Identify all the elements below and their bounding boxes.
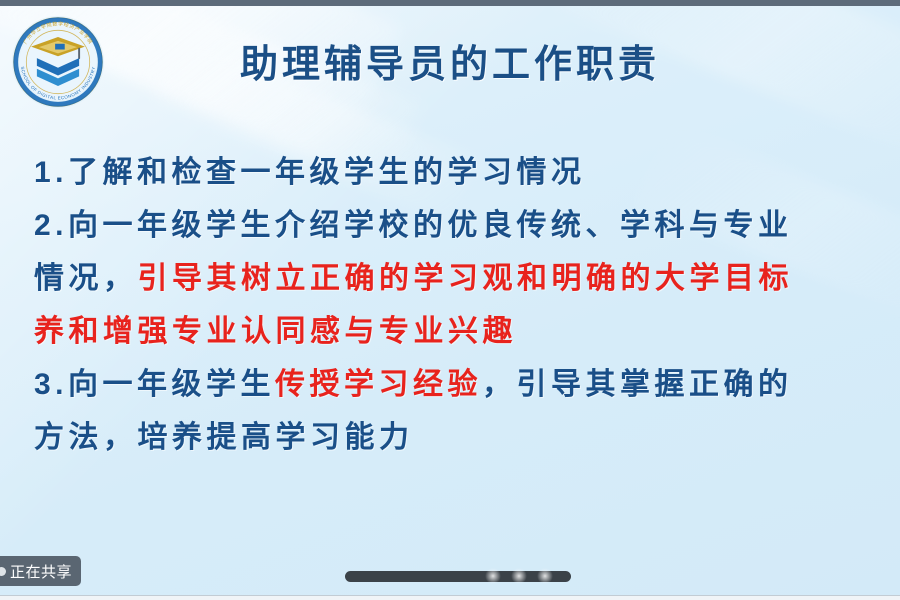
slide-body: 1.了解和检查一年级学生的学习情况 2.向一年级学生介绍学校的优良传统、学科与专… [34, 146, 900, 464]
highlighted-text-segment: 传授学习经验 [275, 368, 482, 401]
text-segment: 方法，培养提高学习能力 [34, 421, 414, 454]
body-line-2: 2.向一年级学生介绍学校的优良传统、学科与专业 [34, 199, 900, 252]
top-chrome-bar [0, 0, 900, 6]
presentation-slide: SCHOOL OF DIGITAL ECONOMY INDUSTRY 广州华立学… [0, 0, 900, 600]
text-segment: ，引导其掌握正确的 [482, 368, 793, 401]
screen-sharing-badge[interactable]: 正在共享 [0, 556, 81, 586]
text-segment: 2.向一年级学生介绍学校的优良传统、学科与专业 [34, 209, 793, 242]
home-indicator-glint [537, 568, 553, 584]
home-indicator-glint [511, 568, 527, 584]
sharing-status-dot-icon [0, 567, 6, 576]
home-indicator-glint [485, 568, 501, 584]
body-line-3: 情况，引导其树立正确的学习观和明确的大学目标 [34, 252, 900, 305]
highlighted-text-segment: 引导其树立正确的学习观和明确的大学目标 [138, 262, 794, 295]
slide-title: 助理辅导员的工作职责 [0, 33, 900, 88]
bottom-chrome-bar [0, 595, 900, 600]
body-line-5: 3.向一年级学生传授学习经验，引导其掌握正确的 [34, 358, 900, 411]
body-line-6: 方法，培养提高学习能力 [34, 411, 900, 464]
body-line-4: 养和增强专业认同感与专业兴趣 [34, 305, 900, 358]
text-segment: 3.向一年级学生 [34, 368, 275, 401]
highlighted-text-segment: 养和增强专业认同感与专业兴趣 [34, 315, 517, 348]
home-indicator-bar[interactable] [345, 571, 571, 582]
text-segment: 1.了解和检查一年级学生的学习情况 [34, 156, 586, 189]
body-line-1: 1.了解和检查一年级学生的学习情况 [34, 146, 900, 199]
text-segment: 情况， [34, 262, 138, 295]
sharing-status-label: 正在共享 [10, 561, 72, 582]
